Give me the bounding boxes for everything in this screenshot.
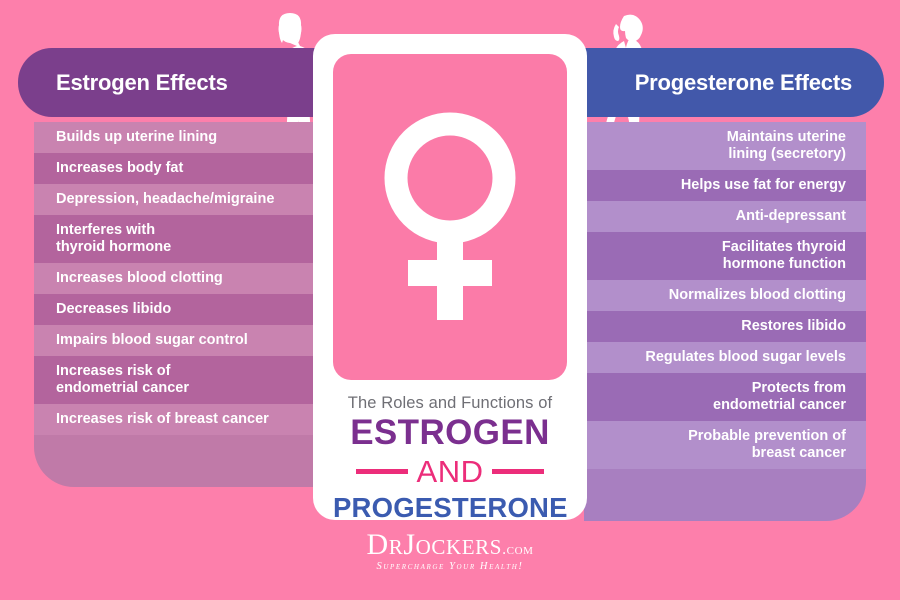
effect-label: Normalizes blood clotting [669, 287, 846, 304]
estrogen-header: Estrogen Effects [18, 48, 316, 117]
effect-label: Builds up uterine lining [56, 129, 217, 146]
effect-label: Decreases libido [56, 301, 171, 318]
effect-row: Increases blood clotting [34, 263, 316, 294]
brand-logo: DrJockers.com Supercharge Your Health! [0, 530, 900, 572]
effect-row: Increases risk of breast cancer [34, 404, 316, 435]
effect-row: Impairs blood sugar control [34, 325, 316, 356]
venus-female-symbol-icon [375, 110, 525, 325]
center-title-card: The Roles and Functions of ESTROGEN AND … [313, 34, 587, 520]
effect-label: Increases body fat [56, 160, 183, 177]
card-word-progesterone: PROGESTERONE [333, 492, 567, 524]
effect-label: Increases risk ofendometrial cancer [56, 363, 189, 397]
effect-label: Restores libido [741, 318, 846, 335]
effect-row: Probable prevention ofbreast cancer [584, 421, 866, 469]
effect-label: Interferes withthyroid hormone [56, 222, 171, 256]
venus-symbol-panel [333, 54, 567, 380]
effect-label: Facilitates thyroidhormone function [722, 239, 846, 273]
effect-row: Decreases libido [34, 294, 316, 325]
progesterone-effects-list: Maintains uterinelining (secretory)Helps… [584, 122, 866, 521]
center-card-text: The Roles and Functions of ESTROGEN AND … [333, 394, 567, 524]
logo-dotcom: .com [502, 541, 533, 558]
estrogen-effects-list: Builds up uterine liningIncreases body f… [34, 122, 316, 487]
logo-dr: Dr [366, 528, 403, 561]
effect-row: Increases body fat [34, 153, 316, 184]
effect-label: Protects fromendometrial cancer [713, 380, 846, 414]
effect-row: Facilitates thyroidhormone function [584, 232, 866, 280]
effect-row: Protects fromendometrial cancer [584, 373, 866, 421]
card-word-and: AND [417, 454, 484, 490]
effect-label: Helps use fat for energy [681, 177, 846, 194]
effect-row: Depression, headache/migraine [34, 184, 316, 215]
effect-row: Maintains uterinelining (secretory) [584, 122, 866, 170]
estrogen-header-label: Estrogen Effects [56, 70, 228, 96]
effect-label: Impairs blood sugar control [56, 332, 248, 349]
effect-label: Anti-depressant [736, 208, 846, 225]
effect-label: Increases blood clotting [56, 270, 223, 287]
rule-right [492, 469, 544, 474]
effect-label: Depression, headache/migraine [56, 191, 274, 208]
logo-jockers: Jockers [403, 528, 502, 561]
rule-left [356, 469, 408, 474]
effect-row: Normalizes blood clotting [584, 280, 866, 311]
logo-tagline: Supercharge Your Health! [0, 561, 900, 572]
progesterone-header: Progesterone Effects [584, 48, 884, 117]
logo-wordmark: DrJockers.com [0, 530, 900, 560]
effect-row: Helps use fat for energy [584, 170, 866, 201]
effect-row: Builds up uterine lining [34, 122, 316, 153]
effect-row: Regulates blood sugar levels [584, 342, 866, 373]
effect-label: Regulates blood sugar levels [645, 349, 846, 366]
effect-row: Increases risk ofendometrial cancer [34, 356, 316, 404]
card-word-estrogen: ESTROGEN [333, 414, 567, 452]
progesterone-header-label: Progesterone Effects [635, 70, 852, 96]
effect-row: Interferes withthyroid hormone [34, 215, 316, 263]
effect-row: Anti-depressant [584, 201, 866, 232]
effect-row: Restores libido [584, 311, 866, 342]
card-eyebrow: The Roles and Functions of [333, 394, 567, 413]
effect-label: Increases risk of breast cancer [56, 411, 269, 428]
effect-label: Probable prevention ofbreast cancer [688, 428, 846, 462]
card-and-line: AND [333, 454, 567, 490]
effect-label: Maintains uterinelining (secretory) [727, 129, 846, 163]
